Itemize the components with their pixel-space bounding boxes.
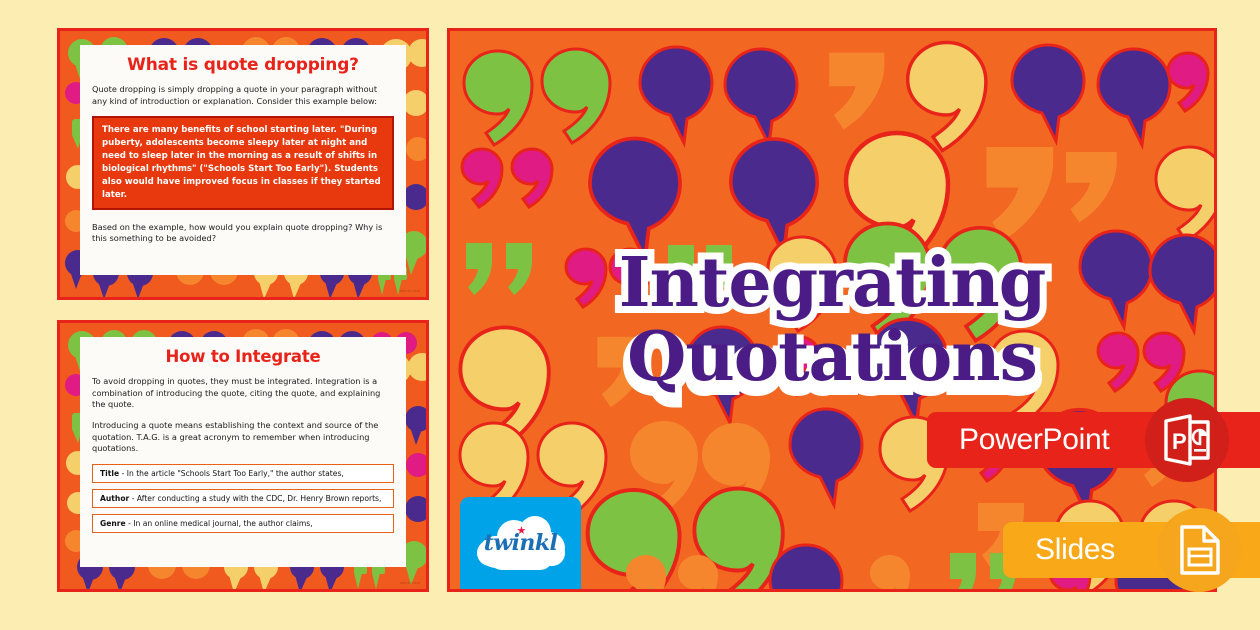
slide-1-intro-paragraph: Quote dropping is simply dropping a quot… [92, 84, 394, 107]
slide-1-closing-paragraph: Based on the example, how would you expl… [92, 222, 394, 245]
cloud-icon: ★ twinkl [475, 514, 567, 572]
slide-2-content: How to Integrate To avoid dropping in qu… [80, 337, 406, 567]
tag-term-author: Author [100, 494, 129, 503]
slide-2-credit: twinkl.com [400, 581, 420, 585]
powerpoint-icon: P [1145, 398, 1229, 482]
badge-powerpoint[interactable]: PowerPoint P [927, 412, 1260, 468]
powerpoint-glyph: P [1160, 413, 1214, 467]
google-slides-icon [1157, 508, 1241, 592]
tag-text-author: - After conducting a study with the CDC,… [129, 494, 381, 503]
slide-2-paragraph-2: Introducing a quote means establishing t… [92, 420, 394, 455]
tag-term-title: Title [100, 469, 119, 478]
slide-1-credit: twinkl.com [400, 289, 420, 293]
slide-thumbnail-1[interactable]: What is quote dropping? Quote dropping i… [57, 28, 429, 300]
slide-thumbnail-2[interactable]: How to Integrate To avoid dropping in qu… [57, 320, 429, 592]
tag-text-title: - In the article "Schools Start Too Earl… [119, 469, 344, 478]
svg-text:P: P [1172, 429, 1187, 454]
slide-1-title: What is quote dropping? [92, 55, 394, 75]
tag-row-title: Title - In the article "Schools Start To… [92, 464, 394, 483]
slide-1-content: What is quote dropping? Quote dropping i… [80, 45, 406, 275]
hero-cover-panel[interactable]: Integrating Integrating Quotations Quota… [447, 28, 1217, 592]
badge-slides[interactable]: Slides [1003, 522, 1260, 578]
tag-row-genre: Genre - In an online medical journal, th… [92, 514, 394, 533]
slides-glyph [1174, 523, 1224, 577]
tag-text-genre: - In an online medical journal, the auth… [126, 519, 313, 528]
slide-2-paragraph-1: To avoid dropping in quotes, they must b… [92, 376, 394, 411]
star-icon: ★ [517, 525, 527, 536]
badge-powerpoint-label: PowerPoint [927, 423, 1109, 457]
twinkl-logo[interactable]: ★ twinkl [460, 497, 581, 589]
slide-1-example-quote: There are many benefits of school starti… [92, 116, 394, 209]
tag-row-author: Author - After conducting a study with t… [92, 489, 394, 508]
badge-slides-label: Slides [1003, 533, 1115, 567]
slide-2-title: How to Integrate [92, 347, 394, 366]
twinkl-wordmark: twinkl [475, 514, 567, 572]
tag-term-genre: Genre [100, 519, 126, 528]
poster-page: What is quote dropping? Quote dropping i… [0, 0, 1260, 630]
